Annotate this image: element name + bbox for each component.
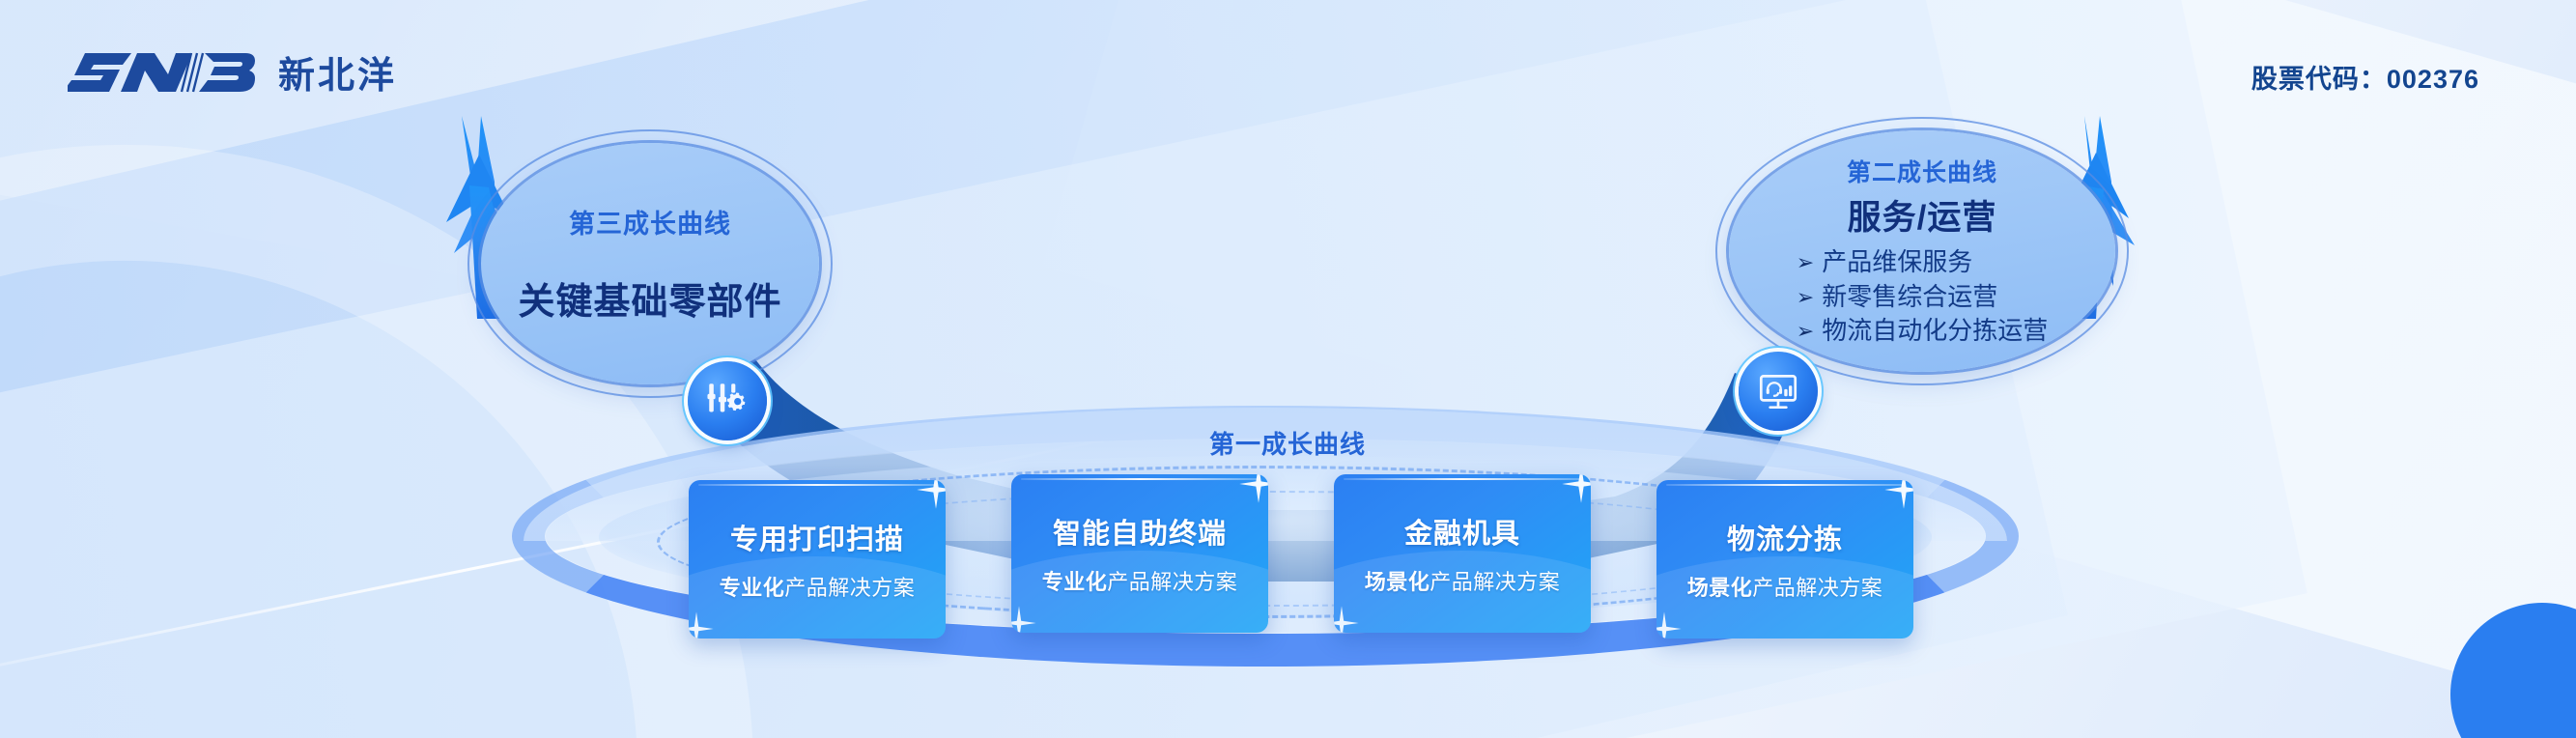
chevron-right-icon: ➢: [1797, 287, 1814, 308]
list-item: ➢ 产品维保服务: [1797, 245, 2048, 280]
snbc-wordmark-icon: [68, 47, 261, 98]
card-subtitle-rest: 产品解决方案: [1107, 570, 1237, 594]
stock-code-label: 股票代码：002376: [2251, 58, 2479, 96]
logo-chinese-name: 新北洋: [278, 45, 397, 99]
list-item-label: 新零售综合运营: [1822, 280, 1997, 315]
third-growth-curve-bubble[interactable]: 第三成长曲线 关键基础零部件: [481, 143, 819, 384]
card-title: 物流分拣: [1727, 517, 1843, 557]
third-curve-node[interactable]: [688, 361, 767, 440]
list-item: ➢ 物流自动化分拣运营: [1797, 314, 2048, 349]
third-curve-kicker: 第三成长曲线: [569, 203, 731, 241]
bg-corner-circle: [2450, 603, 2576, 738]
product-card-financial-machinery[interactable]: 金融机具 场景化产品解决方案: [1334, 474, 1591, 633]
chevron-right-icon: ➢: [1797, 252, 1814, 273]
company-logo[interactable]: 新北洋: [68, 45, 397, 99]
sparkle-icon: [1334, 602, 1363, 633]
card-title: 金融机具: [1404, 511, 1520, 552]
card-subtitle: 场景化产品解决方案: [1687, 571, 1883, 602]
product-card-logistics-sorting[interactable]: 物流分拣 场景化产品解决方案: [1656, 480, 1913, 639]
card-subtitle-strong: 专业化: [1042, 570, 1108, 594]
chevron-right-icon: ➢: [1797, 321, 1814, 342]
card-subtitle-strong: 场景化: [1365, 570, 1430, 594]
card-top-highlight: [1344, 478, 1581, 480]
list-item: ➢ 新零售综合运营: [1797, 280, 2048, 315]
card-title: 智能自助终端: [1053, 511, 1227, 552]
sliders-gear-icon: [703, 377, 751, 425]
list-item-label: 物流自动化分拣运营: [1822, 314, 2048, 349]
second-curve-node[interactable]: [1739, 352, 1818, 431]
second-curve-bullet-list: ➢ 产品维保服务 ➢ 新零售综合运营 ➢ 物流自动化分拣运营: [1797, 245, 2048, 350]
second-curve-title: 服务/运营: [1848, 190, 1997, 240]
product-card-printing-scanning[interactable]: 专用打印扫描 专业化产品解决方案: [689, 480, 946, 639]
card-subtitle-rest: 产品解决方案: [784, 576, 915, 600]
list-item-label: 产品维保服务: [1822, 245, 1972, 280]
card-subtitle: 专业化产品解决方案: [720, 571, 916, 602]
card-title: 专用打印扫描: [730, 517, 904, 557]
card-top-highlight: [698, 484, 936, 486]
card-subtitle-rest: 产品解决方案: [1752, 576, 1882, 600]
card-subtitle-strong: 专业化: [720, 576, 785, 600]
monitor-headset-chart-icon: [1754, 367, 1802, 415]
first-growth-curve-label: 第一成长曲线: [1209, 425, 1366, 461]
card-top-highlight: [1021, 478, 1259, 480]
sparkle-icon: [1656, 608, 1685, 639]
card-top-highlight: [1666, 484, 1904, 486]
second-curve-kicker: 第二成长曲线: [1847, 154, 1997, 188]
sparkle-icon: [689, 608, 718, 639]
second-growth-curve-bubble[interactable]: 第二成长曲线 服务/运营 ➢ 产品维保服务 ➢ 新零售综合运营 ➢ 物流自动化分…: [1729, 130, 2115, 372]
sparkle-icon: [1011, 602, 1040, 633]
card-subtitle-strong: 场景化: [1687, 576, 1753, 600]
third-curve-title: 关键基础零部件: [518, 271, 781, 325]
product-card-self-service-terminal[interactable]: 智能自助终端 专业化产品解决方案: [1011, 474, 1268, 633]
slide-canvas: 第一成长曲线 第三成长曲线 关键基础零部件 第二成长曲线 服务/运营 ➢ 产品维…: [0, 0, 2576, 738]
card-subtitle: 专业化产品解决方案: [1042, 565, 1238, 596]
card-subtitle: 场景化产品解决方案: [1365, 565, 1561, 596]
card-subtitle-rest: 产品解决方案: [1430, 570, 1560, 594]
